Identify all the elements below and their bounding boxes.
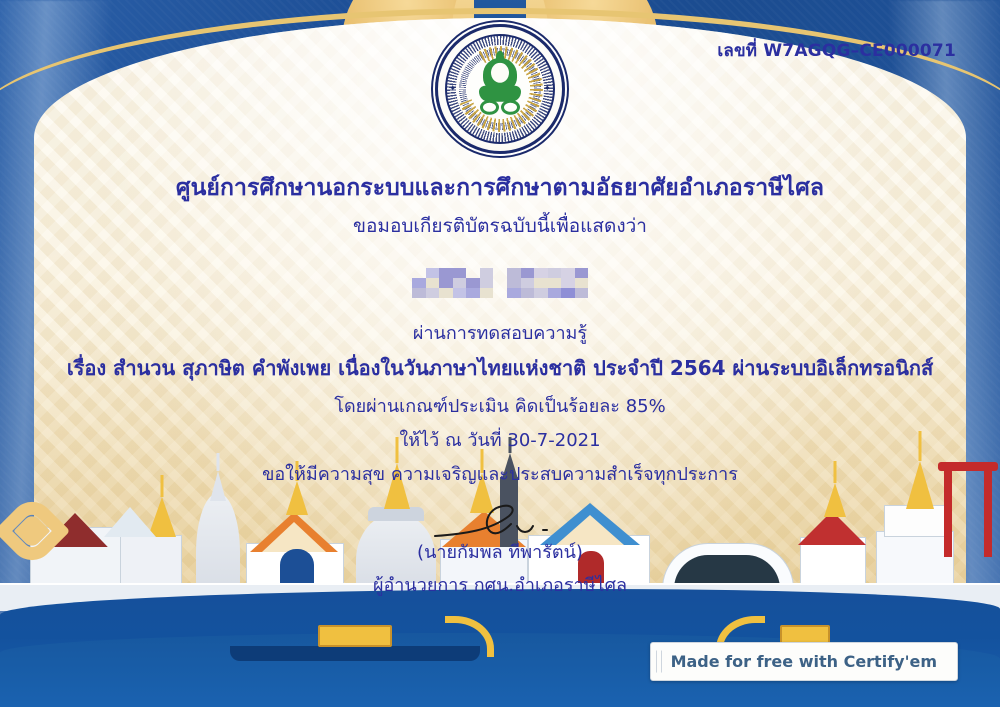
redaction-pixel	[412, 268, 426, 278]
redaction-pixel	[561, 278, 575, 288]
redaction-pixel	[439, 278, 453, 288]
redaction-pixel	[426, 288, 440, 298]
redaction-pixel	[534, 268, 548, 278]
redaction-pixel	[507, 278, 521, 288]
redaction-pixel	[412, 288, 426, 298]
redaction-pixel	[466, 278, 480, 288]
redaction-pixel	[480, 268, 494, 278]
redaction-pixel	[466, 268, 480, 278]
badge-label: Made for free with Certify'em	[671, 652, 937, 671]
redaction-pixel	[412, 278, 426, 288]
badge-pin-icon	[656, 650, 662, 673]
pass-statement: ผ่านการทดสอบความรู้	[0, 318, 1000, 347]
redaction-pixel	[561, 288, 575, 298]
certificate-content: เลขที่ W7AGQG–CE000071 ✦ ✦ ศูนย์การศึกษา…	[0, 0, 1000, 707]
redaction-pixel	[426, 268, 440, 278]
redaction-pixel	[534, 288, 548, 298]
redaction-pixel	[507, 288, 521, 298]
redaction-pixel	[521, 268, 535, 278]
redaction-pixel	[480, 288, 494, 298]
redaction-pixel	[575, 278, 589, 288]
organization-seal-icon: ✦ ✦	[435, 24, 565, 154]
signer-role: ผู้อำนวยการ กศน.อำเภอราษีไศล	[0, 570, 1000, 599]
issue-date-statement: ให้ไว้ ณ วันที่ 30-7-2021	[0, 425, 1000, 454]
redaction-pixel	[575, 288, 589, 298]
redaction-pixel	[453, 288, 467, 298]
redaction-pixel	[561, 268, 575, 278]
recipient-last-name-blur	[507, 268, 588, 298]
signer-name: (นายกัมพล ทีพารัตน์)	[0, 537, 1000, 566]
redaction-pixel	[507, 268, 521, 278]
recipient-name-redacted	[412, 268, 588, 298]
redaction-pixel	[480, 278, 494, 288]
redaction-pixel	[426, 278, 440, 288]
certificate-number: เลขที่ W7AGQG–CE000071	[717, 37, 956, 64]
score-statement: โดยผ่านเกณฑ์ประเมิน คิดเป็นร้อยละ 85%	[0, 391, 1000, 420]
subject-statement: เรื่อง สำนวน สุภาษิต คำพังเพย เนื่องในวั…	[0, 352, 1000, 384]
blessing-statement: ขอให้มีความสุข ความเจริญและประสบความสำเร…	[0, 459, 1000, 488]
redaction-pixel	[548, 278, 562, 288]
redaction-pixel	[439, 288, 453, 298]
redaction-pixel	[548, 268, 562, 278]
redaction-pixel	[521, 288, 535, 298]
redaction-pixel	[521, 278, 535, 288]
redaction-pixel	[453, 278, 467, 288]
redaction-pixel	[453, 268, 467, 278]
redaction-pixel	[466, 288, 480, 298]
redaction-pixel	[575, 268, 589, 278]
certificate-page: เลขที่ W7AGQG–CE000071 ✦ ✦ ศูนย์การศึกษา…	[0, 0, 1000, 707]
certify-em-badge[interactable]: Made for free with Certify'em	[650, 642, 958, 681]
award-intro-text: ขอมอบเกียรติบัตรฉบับนี้เพื่อแสดงว่า	[0, 211, 1000, 241]
redaction-pixel	[439, 268, 453, 278]
redaction-pixel	[534, 278, 548, 288]
organization-name: ศูนย์การศึกษานอกระบบและการศึกษาตามอัธยาศ…	[0, 170, 1000, 206]
recipient-first-name-blur	[412, 268, 493, 298]
redaction-pixel	[548, 288, 562, 298]
